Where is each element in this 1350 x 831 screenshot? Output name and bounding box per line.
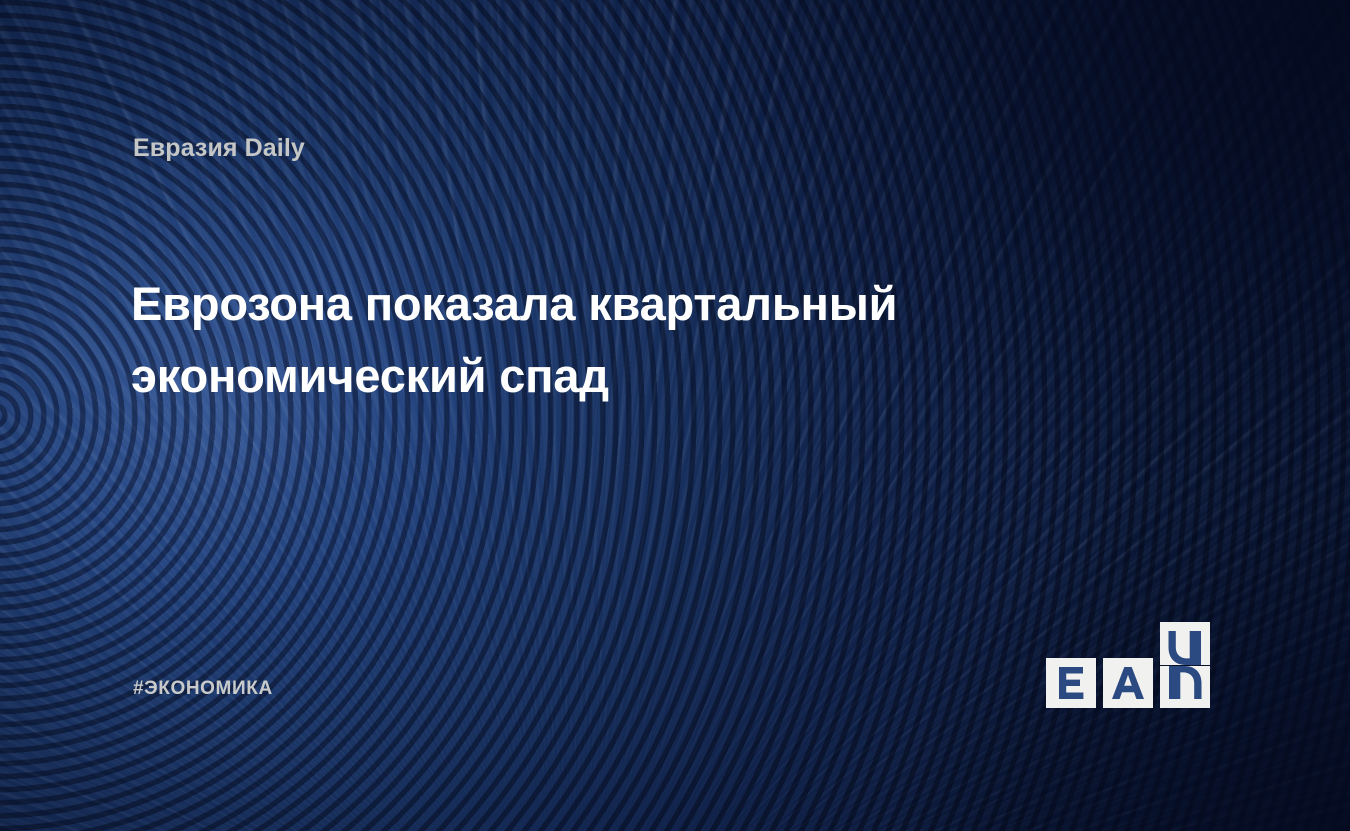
headline-line-2: экономический спад <box>131 340 1061 412</box>
news-card: Евразия Daily Еврозона показала кварталь… <box>0 0 1350 831</box>
card-content: Евразия Daily Еврозона показала кварталь… <box>0 0 1350 831</box>
logo-tile-d-bot <box>1160 666 1210 708</box>
category-hashtag: #ЭКОНОМИКА <box>133 678 273 700</box>
brand-name: Евразия Daily <box>133 134 305 163</box>
logo-tile-a <box>1103 658 1153 708</box>
page-title: Еврозона показала квартальный экономичес… <box>131 268 1061 412</box>
logo-tile-e <box>1046 658 1096 708</box>
logo-tile-d-top <box>1160 622 1210 665</box>
ead-logo <box>1046 622 1221 708</box>
headline-line-1: Еврозона показала квартальный <box>131 268 1061 340</box>
